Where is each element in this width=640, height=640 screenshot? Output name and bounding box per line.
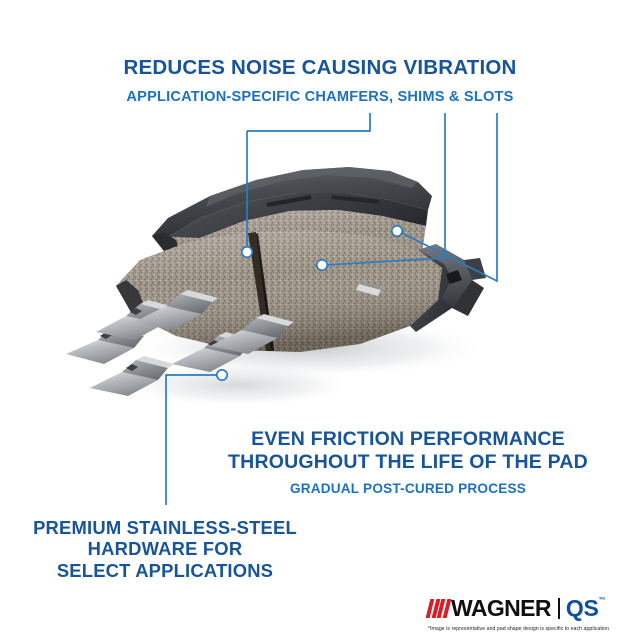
headline-premium-hardware-line3: SELECT APPLICATIONS <box>0 560 330 581</box>
leader-line-chamfer-elbow <box>247 113 370 131</box>
subheadline-gradual-post-cured: GRADUAL POST-CURED PROCESS <box>176 481 640 497</box>
wagner-wordmark: WAGNER <box>451 599 551 618</box>
subheadline-chamfers: APPLICATION-SPECIFIC CHAMFERS, SHIMS & S… <box>0 89 640 106</box>
headline-even-friction: EVEN FRICTION PERFORMANCE THROUGHOUT THE… <box>176 428 640 473</box>
headline-premium-hardware-line2: HARDWARE FOR <box>0 538 330 559</box>
wagner-slashes-icon <box>428 599 450 618</box>
qs-wordmark: QS <box>566 599 599 618</box>
logo-divider <box>558 598 560 619</box>
disclaimer-text: *Image is representative and pad shape d… <box>428 626 636 632</box>
headline-reduces-noise: REDUCES NOISE CAUSING VIBRATION <box>0 56 640 80</box>
headline-even-friction-line1: EVEN FRICTION PERFORMANCE <box>176 428 640 451</box>
brake-pad-illustration <box>60 140 560 430</box>
product-marketing-image: REDUCES NOISE CAUSING VIBRATION APPLICAT… <box>0 0 640 640</box>
wagner-qs-logo: WAGNER QS ™ *Image is representative and… <box>428 596 636 638</box>
headline-even-friction-line2: THROUGHOUT THE LIFE OF THE PAD <box>176 451 640 474</box>
logo-wordmark-row: WAGNER QS ™ <box>428 596 636 620</box>
product-photo <box>60 140 560 430</box>
headline-premium-hardware: PREMIUM STAINLESS-STEEL HARDWARE FOR SEL… <box>0 517 330 581</box>
trademark-symbol: ™ <box>599 597 606 604</box>
headline-premium-hardware-line1: PREMIUM STAINLESS-STEEL <box>0 517 330 538</box>
